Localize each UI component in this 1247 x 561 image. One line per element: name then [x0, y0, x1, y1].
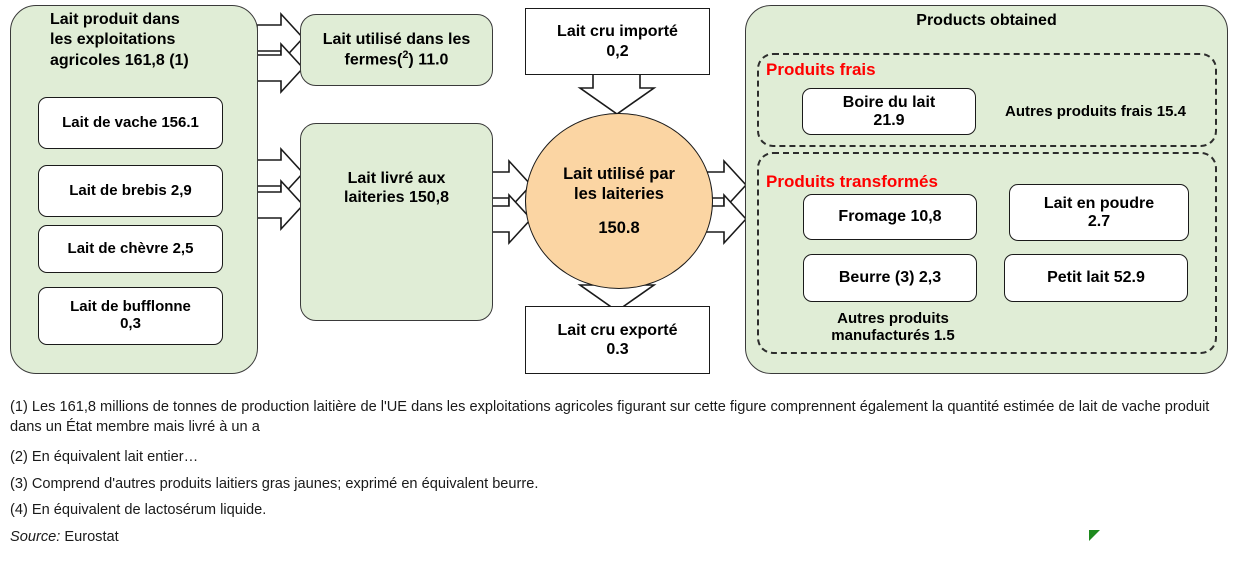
production-item-sheep-label: Lait de brebis 2,9 — [69, 183, 192, 200]
farm-use-line2-post: ) 11.0 — [408, 52, 448, 69]
imported-line1: Lait cru importé — [557, 22, 678, 41]
arrow-production-to-delivered — [257, 149, 303, 197]
milk-powder-line2: 2.7 — [1088, 213, 1110, 231]
production-item-buffalo-label: Lait de bufflonne — [70, 299, 191, 316]
footnote-4: (4) En équivalent de lactosérum liquide. — [10, 501, 1240, 521]
drinking-milk-line2: 21.9 — [873, 112, 904, 130]
fresh-products-heading: Produits frais — [766, 60, 876, 80]
farm-use-box[interactable]: Lait utilisé dans les fermes(2) 11.0 — [300, 14, 493, 86]
green-cursor-marker-icon — [1089, 530, 1100, 541]
production-panel-title: Lait produit dans les exploitations agri… — [50, 10, 250, 71]
arrow-production-to-farmuse-2 — [257, 44, 303, 92]
products-title-text: Products obtained — [916, 12, 1056, 29]
butter-label: Beurre (3) 2,3 — [839, 269, 941, 287]
cheese-box[interactable]: Fromage 10,8 — [803, 194, 977, 240]
drinking-milk-line1: Boire du lait — [843, 94, 935, 112]
drinking-milk-box[interactable]: Boire du lait 21.9 — [802, 88, 976, 135]
footnote-3: (3) Comprend d'autres produits laitiers … — [10, 475, 1240, 495]
production-title-line3: agricoles 161,8 (1) — [50, 51, 250, 71]
arrow-production-to-farmuse — [257, 14, 303, 62]
exported-line2: 0.3 — [606, 340, 628, 359]
production-item-cow-label: Lait de vache 156.1 — [62, 115, 199, 132]
production-title-line1: Lait produit dans — [50, 10, 250, 30]
other-fresh-products-label: Autres produits frais 15.4 — [988, 103, 1203, 120]
exported-box[interactable]: Lait cru exporté 0.3 — [525, 306, 710, 374]
dairy-use-line2: les laiteries — [574, 184, 664, 204]
cheese-label: Fromage 10,8 — [838, 208, 941, 226]
source-label: Source: — [10, 529, 60, 545]
delivered-line2: laiteries 150,8 — [307, 188, 486, 207]
whey-label: Petit lait 52.9 — [1047, 269, 1145, 287]
dairy-use-ellipse[interactable]: Lait utilisé par les laiteries 150.8 — [525, 113, 713, 289]
production-item-buffalo[interactable]: Lait de bufflonne 0,3 — [38, 287, 223, 345]
production-item-cow[interactable]: Lait de vache 156.1 — [38, 97, 223, 149]
farm-use-line1: Lait utilisé dans les — [323, 30, 471, 49]
imported-box[interactable]: Lait cru importé 0,2 — [525, 8, 710, 75]
production-item-buffalo-value: 0,3 — [120, 316, 141, 333]
production-item-sheep[interactable]: Lait de brebis 2,9 — [38, 165, 223, 217]
footnotes: (1) Les 161,8 millions de tonnes de prod… — [10, 398, 1240, 547]
processed-products-heading-text: Produits transformés — [766, 172, 938, 191]
farm-use-line2-pre: fermes( — [345, 52, 403, 69]
processed-products-heading: Produits transformés — [766, 172, 938, 192]
source-line: Source: Eurostat — [10, 528, 1240, 548]
dairy-use-value: 150.8 — [598, 218, 639, 238]
whey-box[interactable]: Petit lait 52.9 — [1004, 254, 1188, 302]
footnote-2: (2) En équivalent lait entier… — [10, 448, 1240, 468]
milk-powder-line1: Lait en poudre — [1044, 195, 1154, 213]
products-panel-title: Products obtained — [745, 12, 1228, 30]
other-manufactured-line1: Autres produits — [837, 310, 949, 327]
production-item-goat-label: Lait de chèvre 2,5 — [68, 241, 194, 258]
arrow-imported-to-dairy — [580, 72, 654, 114]
other-fresh-products-text: Autres produits frais 15.4 — [1005, 103, 1186, 120]
dairy-use-line1: Lait utilisé par — [563, 164, 675, 184]
farm-use-line2: fermes(2) 11.0 — [345, 49, 449, 70]
source-value: Eurostat — [64, 529, 118, 545]
delivered-line1: Lait livré aux — [307, 169, 486, 188]
delivered-box[interactable]: Lait livré aux laiteries 150,8 — [300, 123, 493, 321]
production-title-line2: les exploitations — [50, 30, 250, 50]
arrow-production-to-delivered-2 — [257, 181, 303, 229]
other-manufactured-line2: manufacturés 1.5 — [831, 327, 954, 344]
butter-box[interactable]: Beurre (3) 2,3 — [803, 254, 977, 302]
other-manufactured-products-label: Autres produits manufacturés 1.5 — [803, 310, 983, 345]
imported-line2: 0,2 — [606, 42, 628, 61]
production-item-goat[interactable]: Lait de chèvre 2,5 — [38, 225, 223, 273]
fresh-products-heading-text: Produits frais — [766, 60, 876, 79]
footnote-1: (1) Les 161,8 millions de tonnes de prod… — [10, 398, 1240, 437]
milk-powder-box[interactable]: Lait en poudre 2.7 — [1009, 184, 1189, 241]
exported-line1: Lait cru exporté — [557, 321, 677, 340]
